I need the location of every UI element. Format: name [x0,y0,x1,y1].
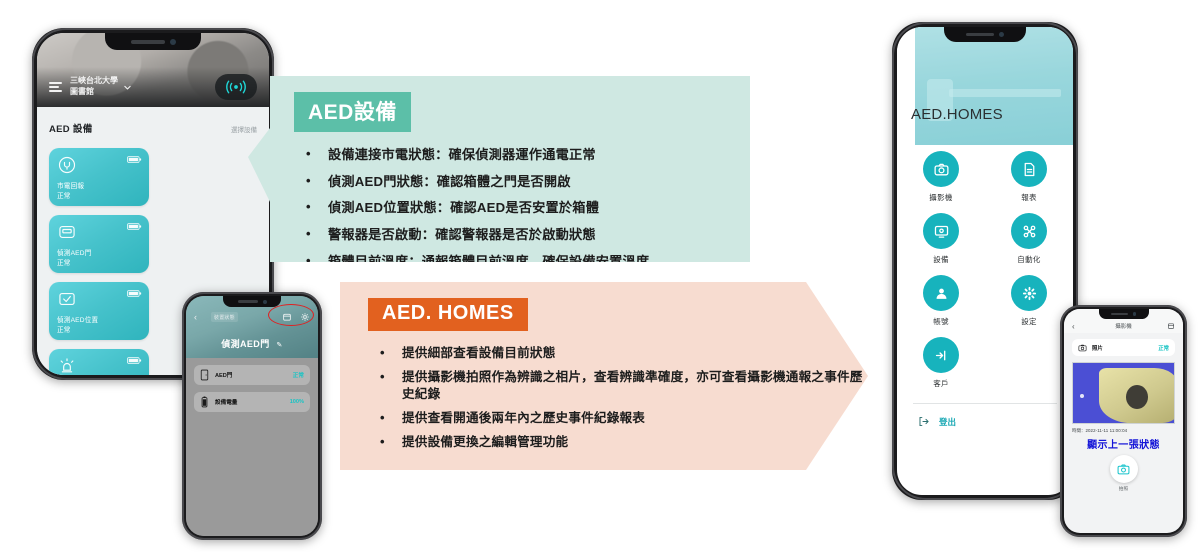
hero-teal-tint [915,27,1073,145]
detail-title-text: 偵測AED門 [221,339,269,349]
report-icon [1021,161,1038,178]
camera-shutter-icon [1117,463,1130,476]
hamburger-menu-icon[interactable] [49,82,62,92]
device-card-status: 正常 [57,257,71,267]
detail-row-battery[interactable]: 設備電量 100% [194,392,310,412]
photo-camera-icon [1078,344,1087,352]
status-badge: 正常 [1158,344,1169,352]
device-card-name: 偵測AED位置 [57,314,98,324]
device-card-power[interactable]: 市電回報 正常 [49,148,149,206]
speaker-grill [131,40,165,44]
callout-aed-title: AED設備 [294,92,411,132]
menu-bubble [923,213,959,249]
speaker-grill [966,33,994,37]
chevron-down-icon[interactable] [123,83,132,92]
callout-homes-title: AED. HOMES [368,298,528,331]
device-card-name: 偵測AED門 [57,247,92,257]
menu-item-label: 報表 [1021,192,1037,203]
red-ellipse-highlight [268,304,314,326]
menu-item-account[interactable]: 帳號 [918,275,964,327]
list-item: 提供查看開通後兩年內之歷史事件紀錄報表 [368,410,868,427]
aed-door-icon [57,222,77,242]
menu-item-settings[interactable]: 設定 [1006,275,1052,327]
phone-notch [1099,309,1149,319]
phone-mockup-main-menu: AED.HOMES 攝影機 [892,22,1078,500]
camera-page-title: 攝影機 [1064,322,1183,330]
menu-item-device[interactable]: 設備 [918,213,964,265]
phone-notch [105,33,201,50]
wifi-signal-badge [215,74,257,100]
list-item: 提供細部查看設備目前狀態 [368,345,868,362]
camera-icon [933,161,950,178]
customer-icon [933,347,950,364]
phone-screen-device-detail: ‹ 裝置狀態 偵測AED門 ✎ [186,296,318,536]
battery-icon [200,396,209,408]
status-badge: 正常 [293,371,304,379]
detail-title: 偵測AED門 ✎ [186,337,318,350]
camera-photo-row[interactable]: 照片 正常 [1072,339,1175,356]
menu-item-camera[interactable]: 攝影機 [918,151,964,203]
aed-position-icon [57,289,77,309]
location-label[interactable]: 三峽台北大學 圖書館 [70,76,118,97]
device-icon [933,223,950,240]
automation-icon [1021,223,1038,240]
phone-notch [944,27,1026,42]
device-card-aed-door[interactable]: 偵測AED門 正常 [49,215,149,273]
front-camera-dot [1133,312,1137,316]
phone-notch [223,296,281,307]
device-card-status: 正常 [57,324,71,334]
phone-mockup-device-detail: ‹ 裝置狀態 偵測AED門 ✎ [182,292,322,540]
menu-bubble [1011,151,1047,187]
snapshot-light-dot [1080,394,1084,398]
account-icon [933,285,950,302]
speaker-grill [238,300,258,303]
pencil-edit-icon[interactable]: ✎ [277,342,283,349]
back-chevron-icon[interactable]: ‹ [194,313,197,322]
device-list-header: AED 設備 選擇設備 [49,121,257,135]
menu-items: 攝影機 報表 [897,151,1073,389]
callout-aed-homes: AED. HOMES 提供細部查看設備目前狀態 提供攝影機拍照作為辨識之相片，查… [340,282,868,470]
device-card-name: 市電回報 [57,180,84,190]
status-chip-label: 裝置狀態 [211,312,238,322]
callout-aed-list: 設備連接市電狀態：確保偵測器運作通電正常 偵測AED門狀態：確認箱體之門是否開啟… [294,146,750,270]
battery-icon [127,289,142,298]
list-item: 設備連接市電狀態：確保偵測器運作通電正常 [294,146,750,164]
battery-icon [127,222,142,231]
location-line-2: 圖書館 [70,87,118,98]
device-card-status: 正常 [57,190,71,200]
page-title: AED 設備 [49,121,93,135]
list-item: 箱體目前溫度：通報箱體目前溫度，確保設備安置溫度 [294,253,750,271]
menu-item-label: 設備 [933,254,949,265]
logout-label: 登出 [939,416,956,428]
menu-bubble [1011,213,1047,249]
battery-icon [127,155,142,164]
phone-screen-camera: ‹ 攝影機 照片 正常 時間：2022-11-11 11:00:04 顯示上一張… [1064,309,1183,533]
battery-icon [127,356,142,365]
front-camera-dot [170,39,176,45]
annotation-previous-state: 顯示上一張狀態 [1064,436,1183,451]
menu-item-report[interactable]: 報表 [1006,151,1052,203]
menu-item-label: 設定 [1021,316,1037,327]
logout-button[interactable]: 登出 [897,404,1073,428]
menu-item-label: 攝影機 [929,192,952,203]
list-item: 偵測AED門狀態：確認箱體之門是否開啟 [294,173,750,191]
callout-homes-list: 提供細部查看設備目前狀態 提供攝影機拍照作為辨識之相片，查看辨識準確度，亦可查看… [368,345,868,450]
front-camera-dot [999,32,1004,37]
detail-row-label: AED門 [215,371,232,379]
menu-hero-banner: AED.HOMES [897,27,1073,145]
location-line-1: 三峽台北大學 [70,76,118,87]
capture-button-label: 拍照 [1119,486,1128,492]
door-icon [200,369,209,381]
menu-item-customer[interactable]: 客戶 [918,337,964,389]
snapshot-hole-shape [1126,385,1148,409]
menu-bubble [923,337,959,373]
app-brand-title: AED.HOMES [911,106,1003,123]
front-camera-dot [263,300,267,304]
device-card-alarm[interactable]: 警報器 關閉 [49,349,149,375]
snapshot-timestamp: 時間：2022-11-11 11:00:04 [1072,428,1175,434]
power-plug-icon [57,155,77,175]
camera-row-label: 照片 [1092,344,1103,352]
callout-aed-equipment: AED設備 設備連接市電狀態：確保偵測器運作通電正常 偵測AED門狀態：確認箱體… [248,76,750,262]
list-item: 提供設備更換之編輯管理功能 [368,434,868,451]
phone-screen-main-menu: AED.HOMES 攝影機 [897,27,1073,495]
menu-bubble [1011,275,1047,311]
dashboard-top-bar: 三峽台北大學 圖書館 [37,67,269,107]
menu-item-label: 帳號 [933,316,949,327]
detail-status-list: AED門 正常 設備電量 100% [186,358,318,536]
select-device-link[interactable]: 選擇設備 [231,124,257,134]
menu-bubble [923,275,959,311]
device-card-aed-position[interactable]: 偵測AED位置 正常 [49,282,149,340]
camera-snapshot-image [1072,362,1175,424]
detail-row-door[interactable]: AED門 正常 [194,365,310,385]
main-menu-grid: 攝影機 報表 [897,145,1073,428]
detail-row-label: 設備電量 [215,398,237,406]
menu-item-automation[interactable]: 自動化 [1006,213,1052,265]
menu-bubble [923,151,959,187]
menu-item-label: 客戶 [933,378,949,389]
logout-icon [917,415,930,428]
speaker-grill [1111,313,1128,315]
list-item: 警報器是否啟動：確認警報器是否於啟動狀態 [294,226,750,244]
capture-button[interactable]: 拍照 [1110,455,1138,492]
settings-icon [1021,285,1038,302]
list-item: 偵測AED位置狀態：確認AED是否安置於箱體 [294,199,750,217]
battery-percent: 100% [290,399,304,405]
alarm-siren-icon [57,356,77,375]
menu-item-label: 自動化 [1017,254,1040,265]
wifi-signal-icon [224,79,248,95]
phone-mockup-camera: ‹ 攝影機 照片 正常 時間：2022-11-11 11:00:04 顯示上一張… [1060,305,1187,537]
capture-button-ring [1110,455,1138,483]
list-item: 提供攝影機拍照作為辨識之相片，查看辨識準確度，亦可查看攝影機通報之事件歷史紀錄 [368,369,868,403]
